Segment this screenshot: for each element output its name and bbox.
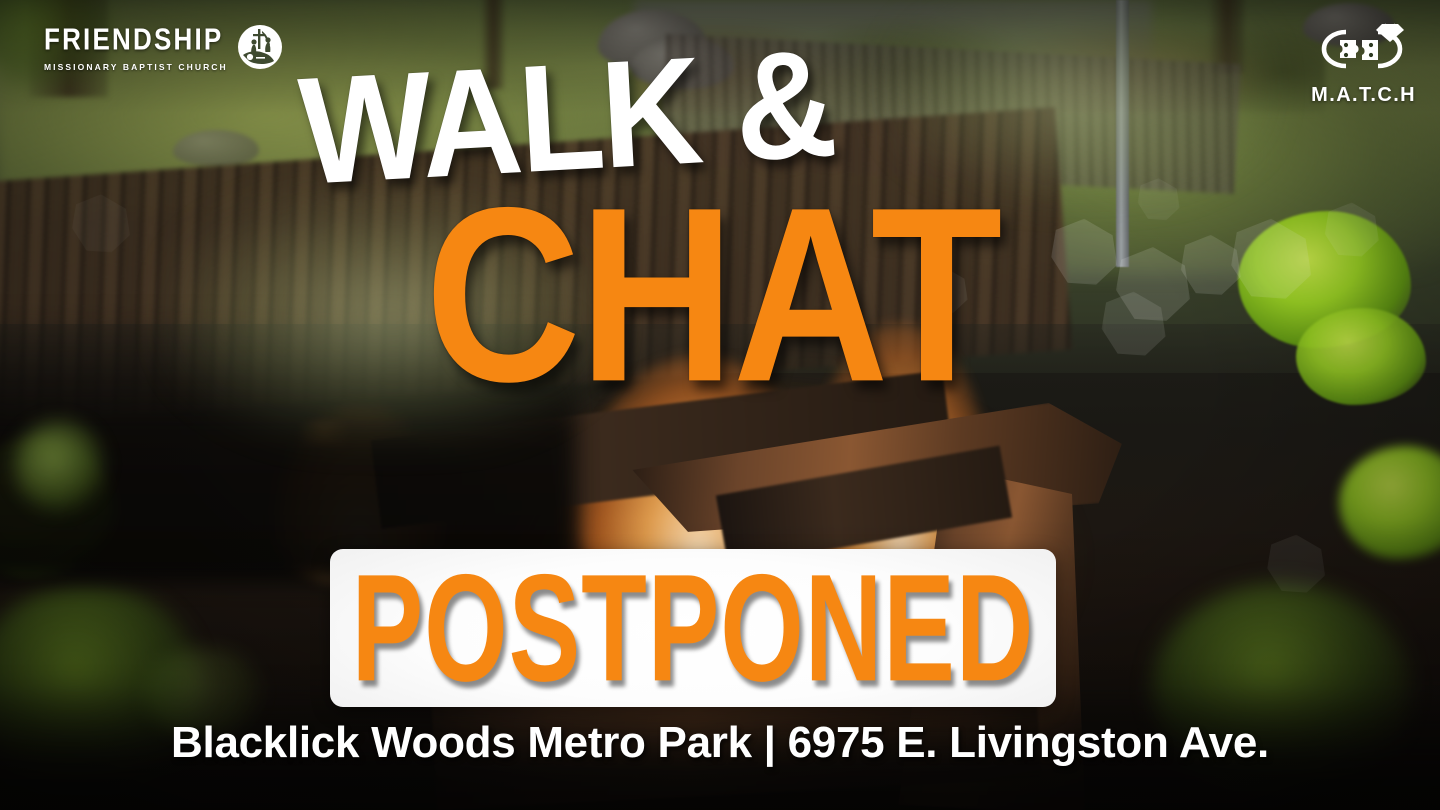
venue-address: Blacklick Woods Metro Park | 6975 E. Liv… [0,718,1440,768]
friendship-logo-text: FRIENDSHIP MISSIONARY BAPTIST CHURCH [44,28,228,72]
postponed-banner: POSTPONED [330,549,1056,707]
puzzle-pieces-circle-diamond-icon [1316,20,1412,83]
bokeh-green-left [14,421,104,511]
title-line-chat: CHAT [425,182,1000,411]
friendship-church-logo: FRIENDSHIP MISSIONARY BAPTIST CHURCH [44,24,283,75]
friendship-logo-subtitle: MISSIONARY BAPTIST CHURCH [44,63,228,72]
friendship-logo-title: FRIENDSHIP [44,23,223,54]
foliage-right-lower [1296,308,1426,405]
event-flyer: FRIENDSHIP MISSIONARY BAPTIST CHURCH [0,0,1440,810]
match-partner-logo: M.A.T.C.H [1311,20,1416,107]
church-globe-cross-icon [237,24,283,75]
boulder-small [173,130,259,167]
match-logo-text: M.A.T.C.H [1311,84,1416,107]
postponed-label: POSTPONED [352,552,1035,705]
